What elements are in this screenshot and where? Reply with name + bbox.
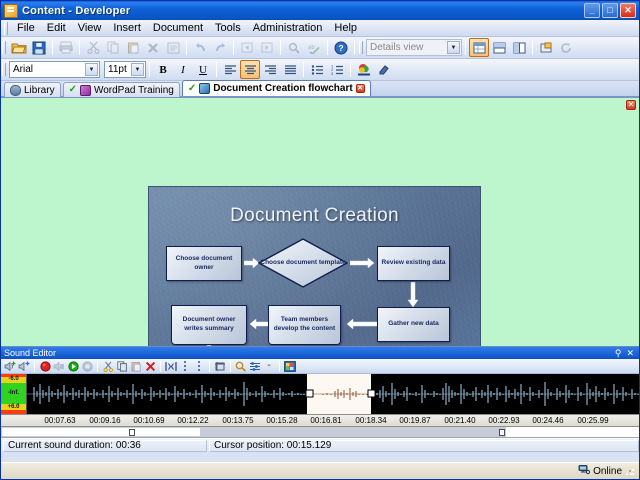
horizontal-split-button[interactable] <box>489 38 509 57</box>
timeline-scrollbar[interactable] <box>1 427 639 438</box>
open-icon[interactable] <box>9 38 29 57</box>
paste-icon <box>129 360 143 373</box>
text-color-button[interactable] <box>354 60 374 79</box>
cut-icon <box>83 38 103 57</box>
print-icon <box>56 38 76 57</box>
underline-button[interactable]: U <box>193 60 213 79</box>
window-controls: _ □ ✕ <box>584 3 637 18</box>
timeline-ruler[interactable]: 00:07.63 00:09.16 00:10.69 00:12.22 00:1… <box>1 414 639 427</box>
toolbar-separator <box>280 40 281 55</box>
close-icon[interactable]: ✕ <box>626 348 634 359</box>
tab-label: Library <box>24 85 55 96</box>
resize-grip[interactable] <box>625 466 635 476</box>
undo-icon <box>190 38 210 57</box>
underline-label: U <box>199 64 207 76</box>
sound-toolbar-separator <box>97 361 98 372</box>
ruler-tick: 00:25.99 <box>577 416 608 425</box>
svg-text:ab: ab <box>308 45 315 51</box>
cursor-position-field: Cursor position: 00:15.129 <box>209 440 639 452</box>
toolbar-separator <box>465 40 466 55</box>
stop-icon <box>80 360 94 373</box>
italic-button[interactable]: I <box>173 60 193 79</box>
connector-review-to-gather <box>407 282 419 308</box>
append-sound-icon[interactable] <box>17 360 31 373</box>
toolbar-separator <box>149 62 150 77</box>
node-label: Team members develop the content <box>271 316 338 334</box>
sound-editor-toolbar: - <box>1 359 639 374</box>
application-statusbar: Online <box>1 462 639 479</box>
tab-wordpad-training[interactable]: ✓ WordPad Training <box>63 82 180 97</box>
minus-icon[interactable]: - <box>262 360 276 373</box>
toolbar-separator <box>79 40 80 55</box>
menu-help[interactable]: Help <box>328 21 363 35</box>
sound-toolbar-separator <box>160 361 161 372</box>
view-select[interactable]: Details view ▼ <box>366 39 462 56</box>
sound-editor-titlebar: Sound Editor ⚲ ✕ <box>1 347 639 359</box>
copy-icon[interactable] <box>115 360 129 373</box>
waveform-graphic <box>27 374 639 414</box>
application-window: Content - Developer _ □ ✕ File Edit View… <box>0 0 640 480</box>
toolbar-separator <box>303 62 304 77</box>
play-icon[interactable] <box>66 360 80 373</box>
ruler-tick: 00:15.28 <box>266 416 297 425</box>
record-icon[interactable] <box>38 360 52 373</box>
scroll-thumb-left[interactable] <box>1 427 201 437</box>
menu-document[interactable]: Document <box>147 21 209 35</box>
sound-toolbar-separator <box>34 361 35 372</box>
bullet-list-button[interactable] <box>307 60 327 79</box>
ruler-tick: 00:21.40 <box>444 416 475 425</box>
ruler-tick: 00:19.87 <box>399 416 430 425</box>
levels-icon[interactable] <box>248 360 262 373</box>
marker-add-icon[interactable] <box>178 360 192 373</box>
find-icon <box>284 38 304 57</box>
bold-button[interactable]: B <box>153 60 173 79</box>
save-icon[interactable] <box>29 38 49 57</box>
font-size-select[interactable]: 11pt ▼ <box>104 61 146 78</box>
ruler-tick: 00:10.69 <box>133 416 164 425</box>
library-icon <box>10 85 21 96</box>
ruler-tick: 00:18.34 <box>355 416 386 425</box>
chevron-down-icon[interactable]: ▼ <box>131 63 144 76</box>
align-center-button[interactable] <box>240 60 260 79</box>
svg-text:?: ? <box>338 43 343 53</box>
align-right-button[interactable] <box>260 60 280 79</box>
main-toolbar: ab ? Details view ▼ <box>1 37 639 59</box>
properties-icon <box>163 38 183 57</box>
highlight-color-button[interactable] <box>374 60 394 79</box>
preview-button[interactable] <box>536 38 556 57</box>
slide-title: Document Creation <box>149 205 480 227</box>
ruler-tick: 00:24.46 <box>532 416 563 425</box>
toolbar-separator <box>52 40 53 55</box>
menu-file[interactable]: File <box>11 21 41 35</box>
ruler-tick: 00:12.22 <box>177 416 208 425</box>
node-gather-new-data[interactable]: Gather new data <box>377 307 450 342</box>
chevron-down-icon[interactable]: ▼ <box>85 63 98 76</box>
document-tabstrip: Library ✓ WordPad Training ✓ Document Cr… <box>1 81 639 97</box>
sound-editor-statusbar: Current sound duration: 00:36 Cursor pos… <box>1 438 639 452</box>
sound-toolbar-separator <box>279 361 280 372</box>
redo-icon <box>210 38 230 57</box>
ruler-tick: 00:07.63 <box>44 416 75 425</box>
menu-insert[interactable]: Insert <box>107 21 147 35</box>
vu-label-bottom: +6.0 <box>1 404 26 410</box>
node-team-members-develop-content[interactable]: Team members develop the content <box>268 305 341 345</box>
svg-text:3: 3 <box>331 71 334 75</box>
wordpad-icon <box>80 85 91 96</box>
pause-icon <box>52 360 66 373</box>
node-label: Document owner writes summary <box>174 316 244 334</box>
format-toolbar-grip[interactable] <box>2 63 6 76</box>
tab-document-creation-flowchart[interactable]: ✓ Document Creation flowchart ✕ <box>182 80 371 96</box>
node-document-owner-writes-summary[interactable]: Document owner writes summary <box>171 305 247 345</box>
menu-administration[interactable]: Administration <box>247 21 329 35</box>
online-status-label: Online <box>593 466 622 477</box>
crop-icon[interactable] <box>213 360 227 373</box>
format-toolbar: Arial ▼ 11pt ▼ B I U 123 <box>1 59 639 81</box>
next-icon <box>257 38 277 57</box>
align-left-button[interactable] <box>220 60 240 79</box>
node-label: Choose document owner <box>169 255 239 273</box>
close-button[interactable]: ✕ <box>620 3 636 18</box>
window-titlebar: Content - Developer _ □ ✕ <box>1 1 639 20</box>
node-label: Choose document template <box>258 238 348 288</box>
numbered-list-button[interactable]: 123 <box>327 60 347 79</box>
help-icon[interactable]: ? <box>331 38 351 57</box>
markers-icon[interactable] <box>164 360 178 373</box>
italic-label: I <box>181 64 185 76</box>
vu-label-middle: -Inf. <box>1 390 26 396</box>
app-icon <box>4 4 18 18</box>
connector-template-to-review <box>350 257 375 269</box>
sound-toolbar-separator <box>209 361 210 372</box>
toolbar-separator <box>532 40 533 55</box>
font-name-value: Arial <box>13 64 33 75</box>
connector-gather-to-team <box>341 318 378 330</box>
sound-toolbar-separator <box>230 361 231 372</box>
tab-label: Document Creation flowchart <box>213 83 352 94</box>
scroll-track[interactable] <box>201 427 506 437</box>
spellcheck-icon: ab <box>304 38 324 57</box>
node-review-existing-data[interactable]: Review existing data <box>377 246 450 281</box>
delete-icon <box>143 38 163 57</box>
toolbar-separator <box>233 40 234 55</box>
previous-icon <box>237 38 257 57</box>
menu-bar: File Edit View Insert Document Tools Adm… <box>1 20 639 37</box>
window-title: Content - Developer <box>22 5 130 17</box>
sound-duration-field: Current sound duration: 00:36 <box>3 440 207 452</box>
vertical-split-button[interactable] <box>509 38 529 57</box>
delete-icon[interactable] <box>143 360 157 373</box>
align-justify-button[interactable] <box>280 60 300 79</box>
sound-editor-filler <box>1 452 639 462</box>
ruler-tick: 00:16.81 <box>310 416 341 425</box>
waveform-row: -6.0 -Inf. +6.0 <box>1 374 639 414</box>
ruler-tick: 00:22.93 <box>488 416 519 425</box>
menubar-grip[interactable] <box>4 22 8 35</box>
cursor-handle-left[interactable] <box>129 429 135 436</box>
menu-edit[interactable]: Edit <box>41 21 72 35</box>
tab-library[interactable]: Library <box>4 82 61 97</box>
toolbar-separator <box>327 40 328 55</box>
details-view-button[interactable] <box>469 38 489 57</box>
cursor-handle-right[interactable] <box>499 429 505 436</box>
bold-label: B <box>159 64 166 76</box>
flowchart-icon <box>199 83 210 94</box>
font-size-value: 11pt <box>108 64 127 75</box>
marker-remove-icon[interactable] <box>192 360 206 373</box>
toolbar-separator <box>350 62 351 77</box>
toolbar-separator <box>354 40 355 55</box>
pin-icon[interactable]: ⚲ <box>615 348 622 359</box>
tab-close-icon[interactable]: ✕ <box>356 84 365 93</box>
connector-summary-to-publish <box>203 345 215 346</box>
font-name-select[interactable]: Arial ▼ <box>9 61 100 78</box>
maximize-button[interactable]: □ <box>602 3 618 18</box>
main-toolbar-grip[interactable] <box>2 41 6 54</box>
insert-sound-icon[interactable] <box>3 360 17 373</box>
copy-icon <box>103 38 123 57</box>
check-icon: ✓ <box>188 84 196 94</box>
minimize-button[interactable]: _ <box>584 3 600 18</box>
zoom-icon[interactable] <box>234 360 248 373</box>
sound-editor-panel: Sound Editor ⚲ ✕ <box>1 346 639 462</box>
flowchart-slide[interactable]: Document Creation Choose docume <box>148 186 481 346</box>
vu-meter: -6.0 -Inf. +6.0 <box>1 374 27 414</box>
document-canvas[interactable]: ✕ Document Creation <box>1 97 639 346</box>
paste-icon <box>123 38 143 57</box>
node-label: Review existing data <box>382 259 446 268</box>
tab-label: WordPad Training <box>94 85 174 96</box>
network-icon <box>578 464 590 478</box>
refresh-button <box>556 38 576 57</box>
chevron-down-icon[interactable]: ▼ <box>447 41 460 54</box>
node-choose-document-owner[interactable]: Choose document owner <box>166 246 242 281</box>
node-label: Gather new data <box>388 320 439 329</box>
check-icon: ✓ <box>69 85 77 95</box>
menu-tools[interactable]: Tools <box>209 21 247 35</box>
toolbar-separator <box>216 62 217 77</box>
settings-icon[interactable] <box>283 360 297 373</box>
waveform-display[interactable] <box>27 374 639 414</box>
vu-label-top: -6.0 <box>1 376 26 382</box>
connector-team-to-summary <box>247 318 269 330</box>
menu-view[interactable]: View <box>72 21 108 35</box>
view-select-value: Details view <box>370 42 423 53</box>
ruler-tick: 00:13.75 <box>222 416 253 425</box>
ruler-tick: 00:09.16 <box>89 416 120 425</box>
node-choose-document-template[interactable]: Choose document template <box>258 238 348 288</box>
view-toolbar-grip[interactable] <box>359 41 363 54</box>
cut-icon[interactable] <box>101 360 115 373</box>
sound-editor-title: Sound Editor <box>4 348 56 358</box>
toolbar-separator <box>186 40 187 55</box>
canvas-close-icon[interactable]: ✕ <box>626 100 636 110</box>
